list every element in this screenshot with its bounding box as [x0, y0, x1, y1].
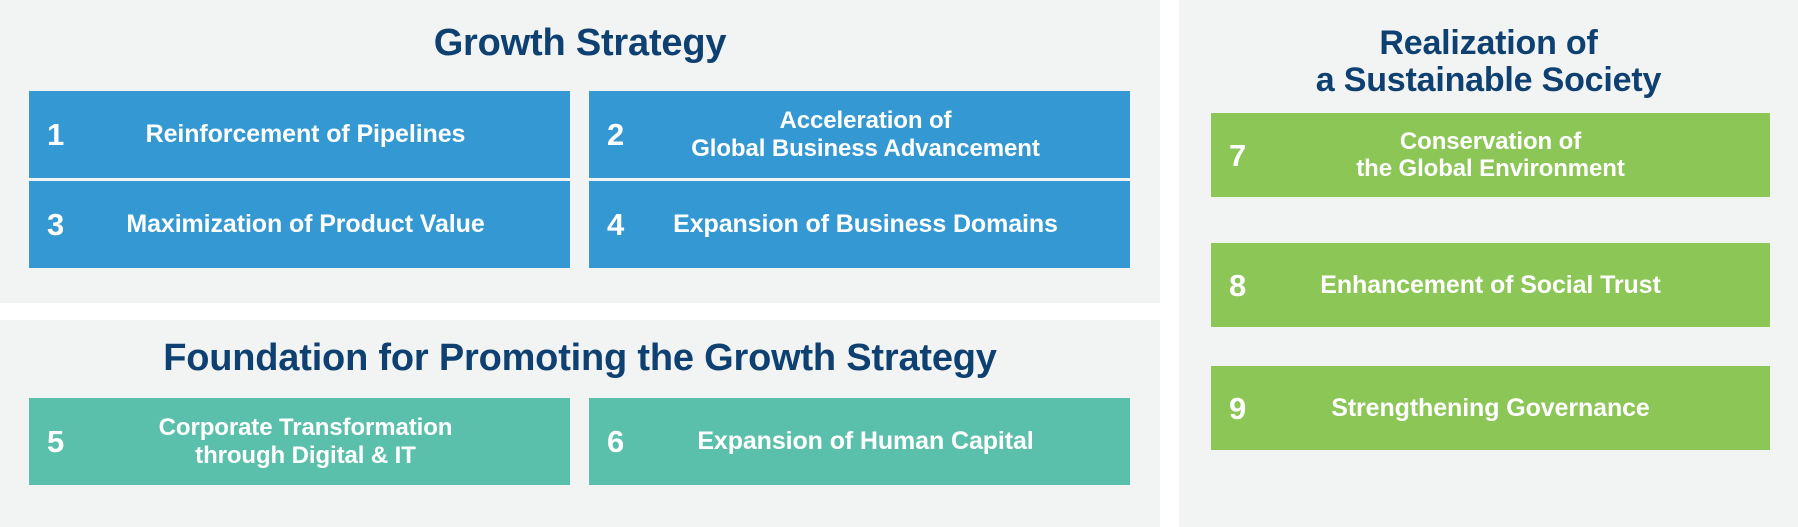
item-number-8: 8	[1211, 270, 1263, 301]
item-card-2[interactable]: 2 Acceleration of Global Business Advanc…	[589, 91, 1130, 178]
item-number-9: 9	[1211, 393, 1263, 424]
item-label-6: Expansion of Human Capital	[641, 427, 1130, 455]
item-number-1: 1	[29, 119, 81, 150]
item-card-5[interactable]: 5 Corporate Transformation through Digit…	[29, 398, 570, 485]
sustainable-society-title: Realization of a Sustainable Society	[1179, 25, 1798, 98]
item-number-7: 7	[1211, 140, 1263, 171]
item-label-1: Reinforcement of Pipelines	[81, 120, 570, 148]
item-number-4: 4	[589, 209, 641, 240]
item-label-5: Corporate Transformation through Digital…	[81, 414, 570, 468]
item-number-2: 2	[589, 119, 641, 150]
item-label-2: Acceleration of Global Business Advancem…	[641, 107, 1130, 161]
growth-strategy-title: Growth Strategy	[0, 23, 1160, 64]
item-number-6: 6	[589, 426, 641, 457]
item-label-3: Maximization of Product Value	[81, 210, 570, 238]
materiality-overview: Growth Strategy 1 Reinforcement of Pipel…	[0, 0, 1798, 527]
item-card-7[interactable]: 7 Conservation of the Global Environment	[1211, 113, 1770, 197]
item-label-8: Enhancement of Social Trust	[1263, 271, 1770, 299]
item-card-3[interactable]: 3 Maximization of Product Value	[29, 181, 570, 268]
item-card-9[interactable]: 9 Strengthening Governance	[1211, 366, 1770, 450]
item-label-9: Strengthening Governance	[1263, 394, 1770, 422]
item-card-4[interactable]: 4 Expansion of Business Domains	[589, 181, 1130, 268]
item-label-4: Expansion of Business Domains	[641, 210, 1130, 238]
item-card-1[interactable]: 1 Reinforcement of Pipelines	[29, 91, 570, 178]
foundation-title: Foundation for Promoting the Growth Stra…	[0, 338, 1160, 379]
item-label-7: Conservation of the Global Environment	[1263, 128, 1770, 182]
item-card-8[interactable]: 8 Enhancement of Social Trust	[1211, 243, 1770, 327]
item-number-3: 3	[29, 209, 81, 240]
sustainable-society-panel: Realization of a Sustainable Society 7 C…	[1179, 0, 1798, 527]
item-number-5: 5	[29, 426, 81, 457]
item-card-6[interactable]: 6 Expansion of Human Capital	[589, 398, 1130, 485]
